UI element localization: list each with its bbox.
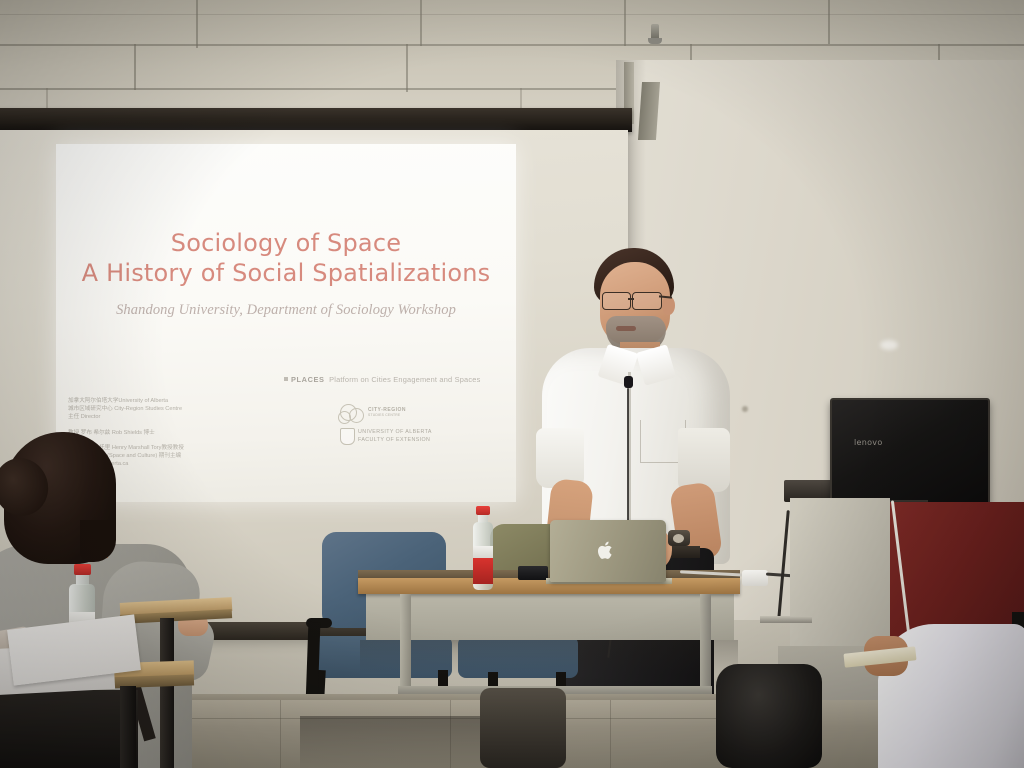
lecture-room-photo: Sociology of Space A History of Social S… [0,0,1024,768]
credit-line: 主任 Director [68,413,278,421]
credit-line: 城市区域研究中心 City-Region Studies Centre [68,405,278,413]
lapel-microphone-icon [624,376,633,388]
slide-subtitle: Shandong University, Department of Socio… [56,302,516,319]
university-of-alberta-logo: UNIVERSITY OF ALBERTA FACULTY OF EXTENSI… [336,427,456,447]
shirt-sleeve-right [678,428,730,492]
eyeglasses-icon [602,292,631,310]
power-adapter [742,570,768,586]
places-tag: PLACES [291,375,325,384]
floor-bag [480,688,566,768]
wall-spot [742,406,748,412]
credit-line: 加拿大阿尔伯塔大学University of Alberta [68,397,278,405]
shield-icon [340,428,355,445]
shirt-sleeve-left [536,428,584,488]
lenovo-logo: lenovo [854,438,883,447]
city-region-logo: CITY-REGION STUDIES CENTRE [336,402,456,424]
shelf-rail [760,616,812,623]
projection-screen-case [0,108,632,132]
places-description: Platform on Cities Engagement and Spaces [329,375,480,384]
slide-logos: CITY-REGION STUDIES CENTRE UNIVERSITY OF… [336,402,456,447]
slide-title: Sociology of Space A History of Social S… [56,228,516,288]
lenovo-monitor[interactable] [830,398,990,506]
desk-apron [366,594,734,640]
eyeglasses-icon [632,292,662,310]
student-desk-back [0,690,138,768]
water-bottle [470,506,496,590]
student-desk-leg [120,686,136,768]
presenter-ear [662,296,675,315]
places-bullet-icon [284,377,288,381]
university-logo-text: UNIVERSITY OF ALBERTA FACULTY OF EXTENSI… [358,429,432,444]
sprinkler-head-icon [648,38,662,44]
city-region-logo-text: CITY-REGION STUDIES CENTRE [368,407,406,417]
apple-logo-icon [597,540,616,561]
slide-title-line-2: A History of Social Spatializations [56,258,516,288]
desk-shadow [360,640,738,674]
black-bag [716,664,822,768]
mobile-phone [518,566,548,580]
student-desk-frame [160,618,174,768]
places-line: PLACES Platform on Cities Engagement and… [284,375,516,384]
wall-mark [880,340,898,350]
eyeglass-bridge [628,298,634,300]
seated-person-right [860,612,1024,768]
presenter-mouth [616,326,636,331]
slide-title-line-1: Sociology of Space [56,228,516,258]
wristwatch-face [673,534,684,543]
